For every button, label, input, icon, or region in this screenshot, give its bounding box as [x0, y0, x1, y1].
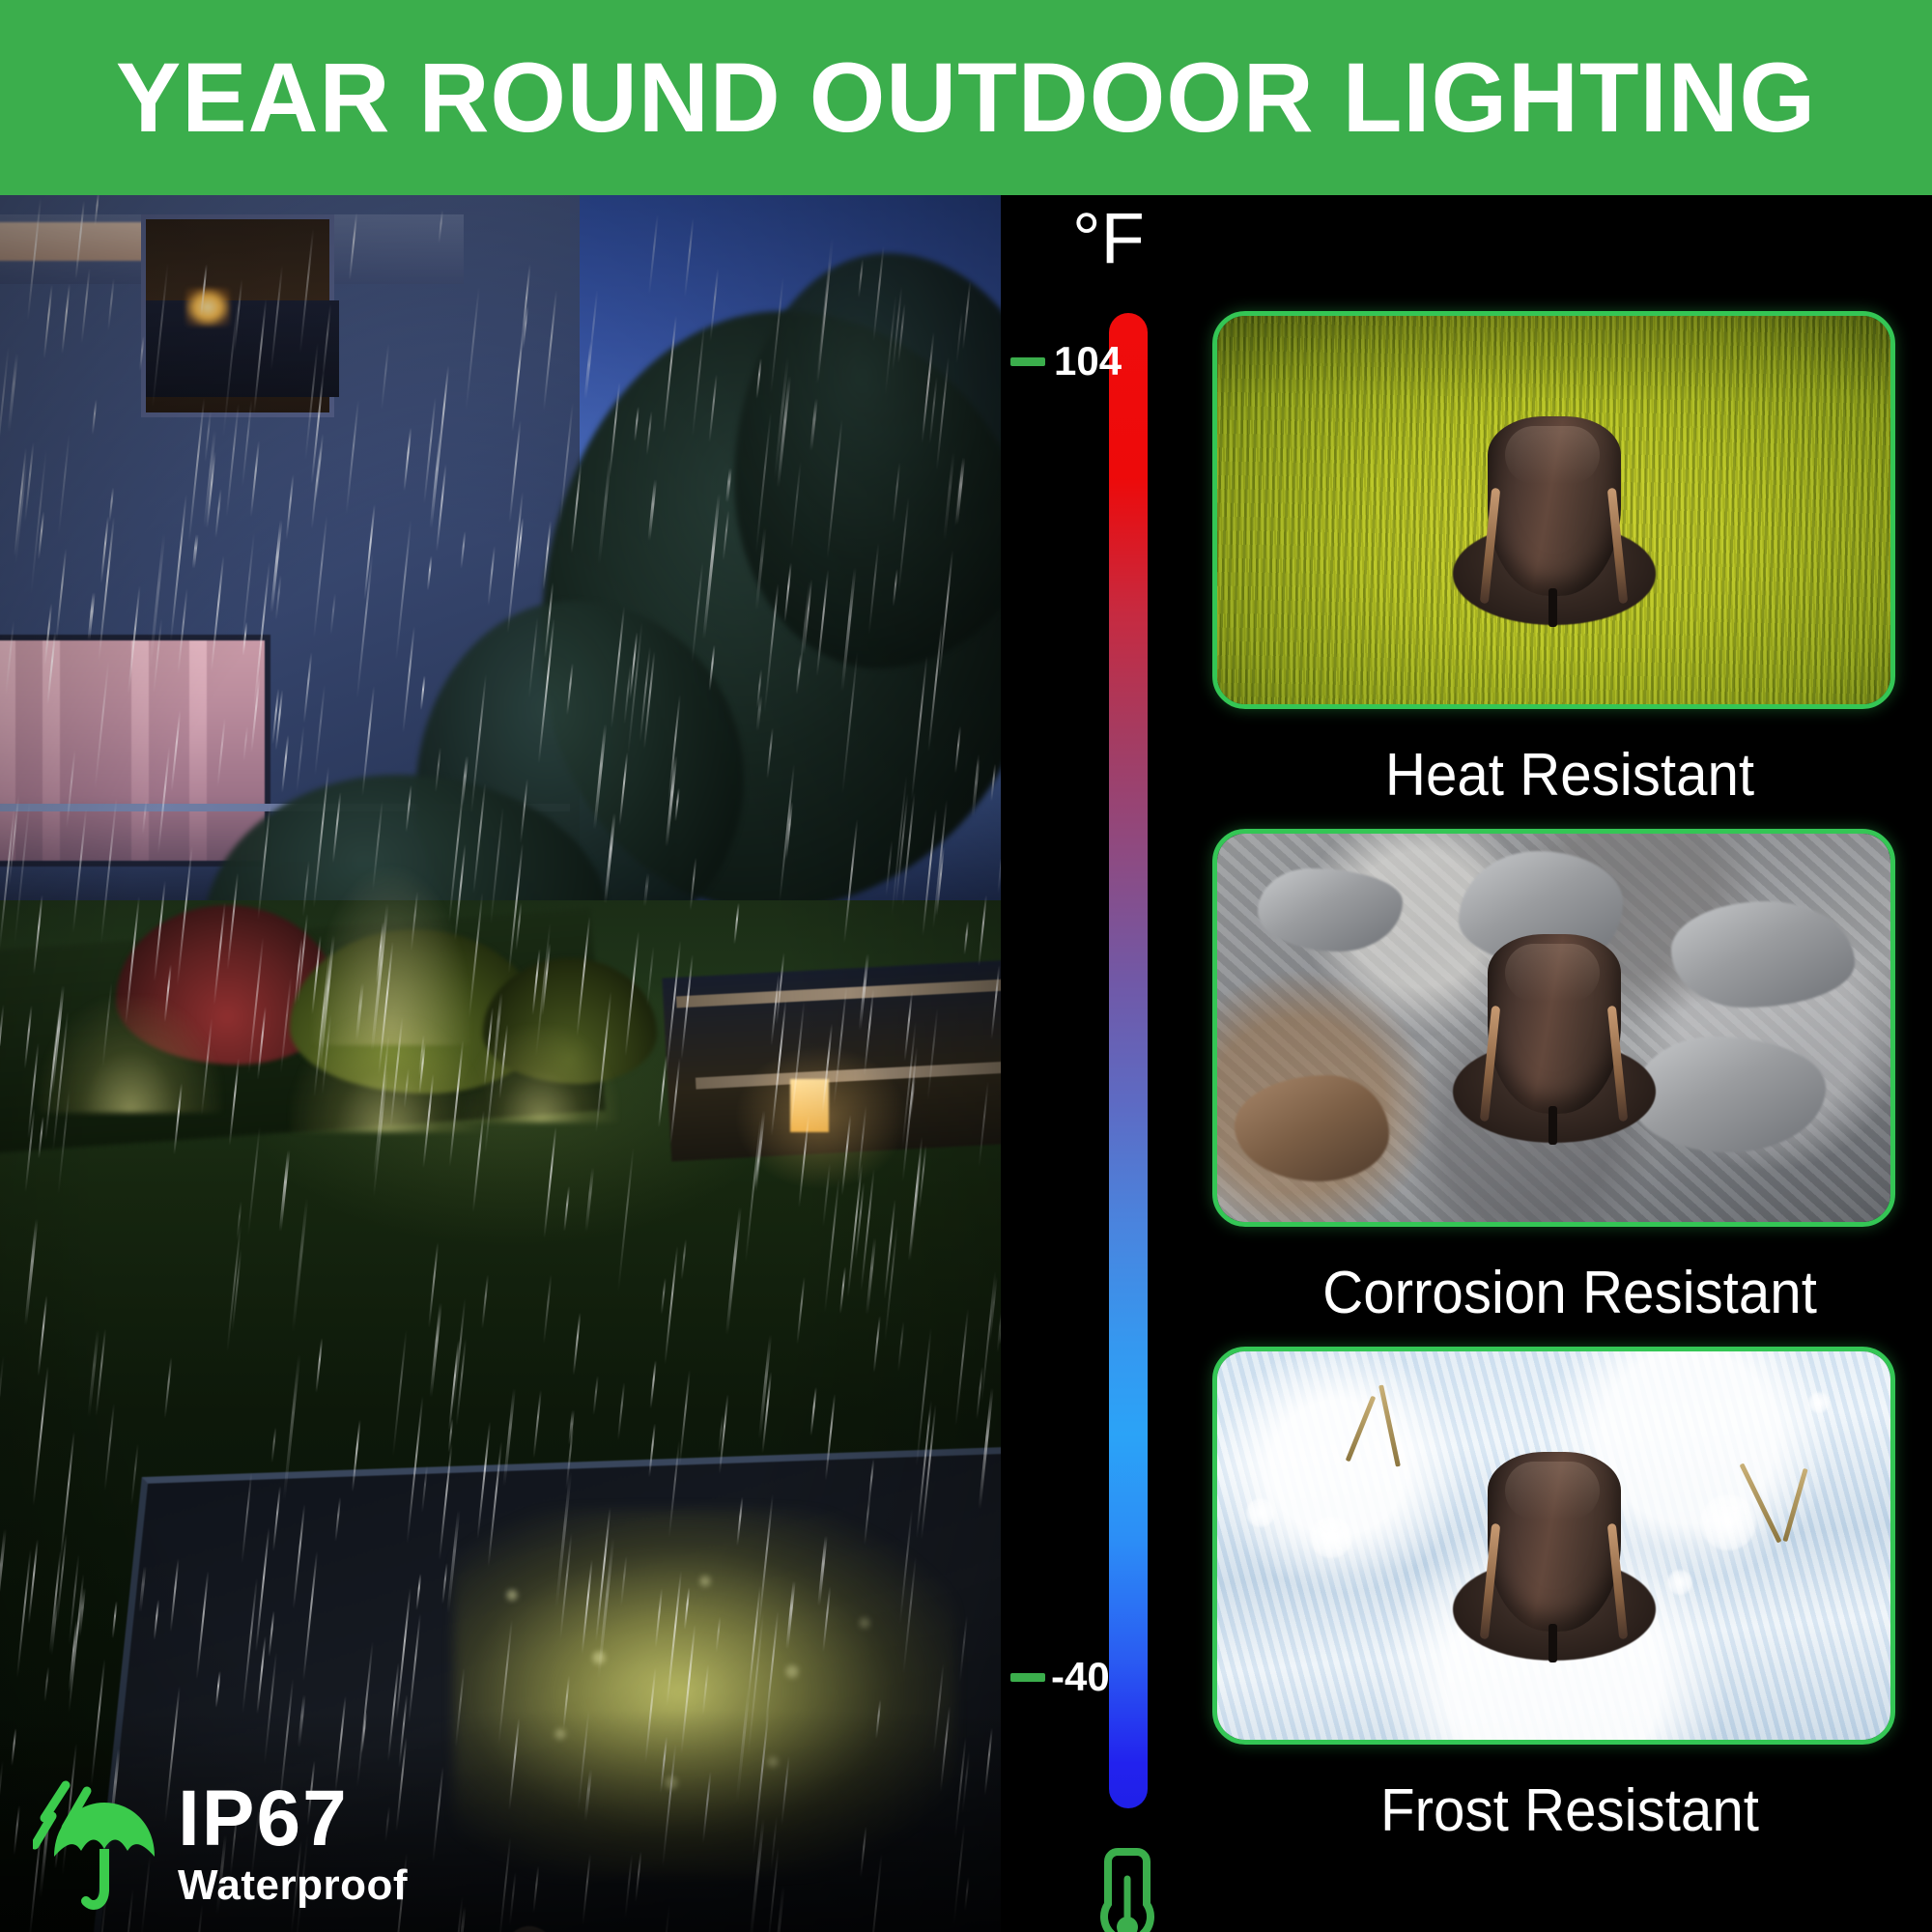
umbrella-rain-icon — [33, 1777, 160, 1911]
min-temp-label: -40 — [1051, 1657, 1110, 1697]
temperature-gradient-bar — [1109, 313, 1148, 1808]
snowflake — [1246, 1498, 1275, 1527]
fixture-seam — [1548, 1106, 1557, 1145]
feature-card-label-corrosion: Corrosion Resistant — [1230, 1264, 1911, 1323]
curtain — [43, 640, 60, 861]
feature-card-heat[interactable] — [1212, 311, 1895, 709]
window-shutter-band — [146, 300, 339, 397]
page-title: YEAR ROUND OUTDOOR LIGHTING — [116, 48, 1816, 147]
temperature-range-gauge: °F 104 -40 — [1001, 195, 1207, 1932]
snowflake — [1808, 1392, 1830, 1413]
ip67-waterproof-badge: IP67 Waterproof — [33, 1777, 408, 1911]
feature-card-label-frost: Frost Resistant — [1230, 1781, 1911, 1841]
well-light-product — [1434, 399, 1675, 640]
upper-window — [141, 214, 334, 417]
fixture-seam — [1548, 1624, 1557, 1662]
fixture-shroud — [1488, 1452, 1621, 1632]
feature-card-frost[interactable] — [1212, 1347, 1895, 1745]
max-temp-label: 104 — [1054, 341, 1122, 382]
temperature-unit-label: °F — [1072, 203, 1145, 274]
uplight-glow — [39, 997, 222, 1113]
product-infographic: YEAR ROUND OUTDOOR LIGHTING — [0, 0, 1932, 1932]
snowflake — [1310, 1516, 1352, 1558]
fixture-shroud — [1488, 416, 1621, 596]
lower-window — [0, 635, 270, 867]
curtain — [189, 640, 207, 861]
fixture-seam — [1548, 588, 1557, 627]
thermometer-icon — [1090, 1840, 1165, 1932]
feature-card-label-heat: Heat Resistant — [1230, 746, 1911, 806]
snowflake — [1700, 1494, 1756, 1550]
uplight-glow — [464, 1026, 618, 1122]
well-light-product — [1434, 917, 1675, 1158]
indoor-lamp-glow — [185, 288, 230, 327]
uplight-glow — [290, 1016, 483, 1132]
min-temp-tick — [1010, 1673, 1045, 1682]
feature-card-corrosion[interactable] — [1212, 829, 1895, 1227]
ip-rating-text: IP67 — [178, 1779, 349, 1859]
header-banner: YEAR ROUND OUTDOOR LIGHTING — [0, 0, 1932, 195]
well-light-product — [1434, 1435, 1675, 1676]
fixture-shroud — [1488, 934, 1621, 1114]
feature-cards: Heat Resistant Corrosion Resistant — [1207, 195, 1932, 1932]
rock — [1258, 868, 1403, 952]
lifestyle-photo: IP67 Waterproof — [0, 195, 1001, 1932]
waterproof-label: Waterproof — [178, 1864, 408, 1907]
rock — [1671, 901, 1855, 1008]
curtain — [0, 640, 15, 861]
max-temp-tick — [1010, 357, 1045, 366]
deck-lamp — [790, 1079, 829, 1132]
curtain — [131, 640, 149, 861]
